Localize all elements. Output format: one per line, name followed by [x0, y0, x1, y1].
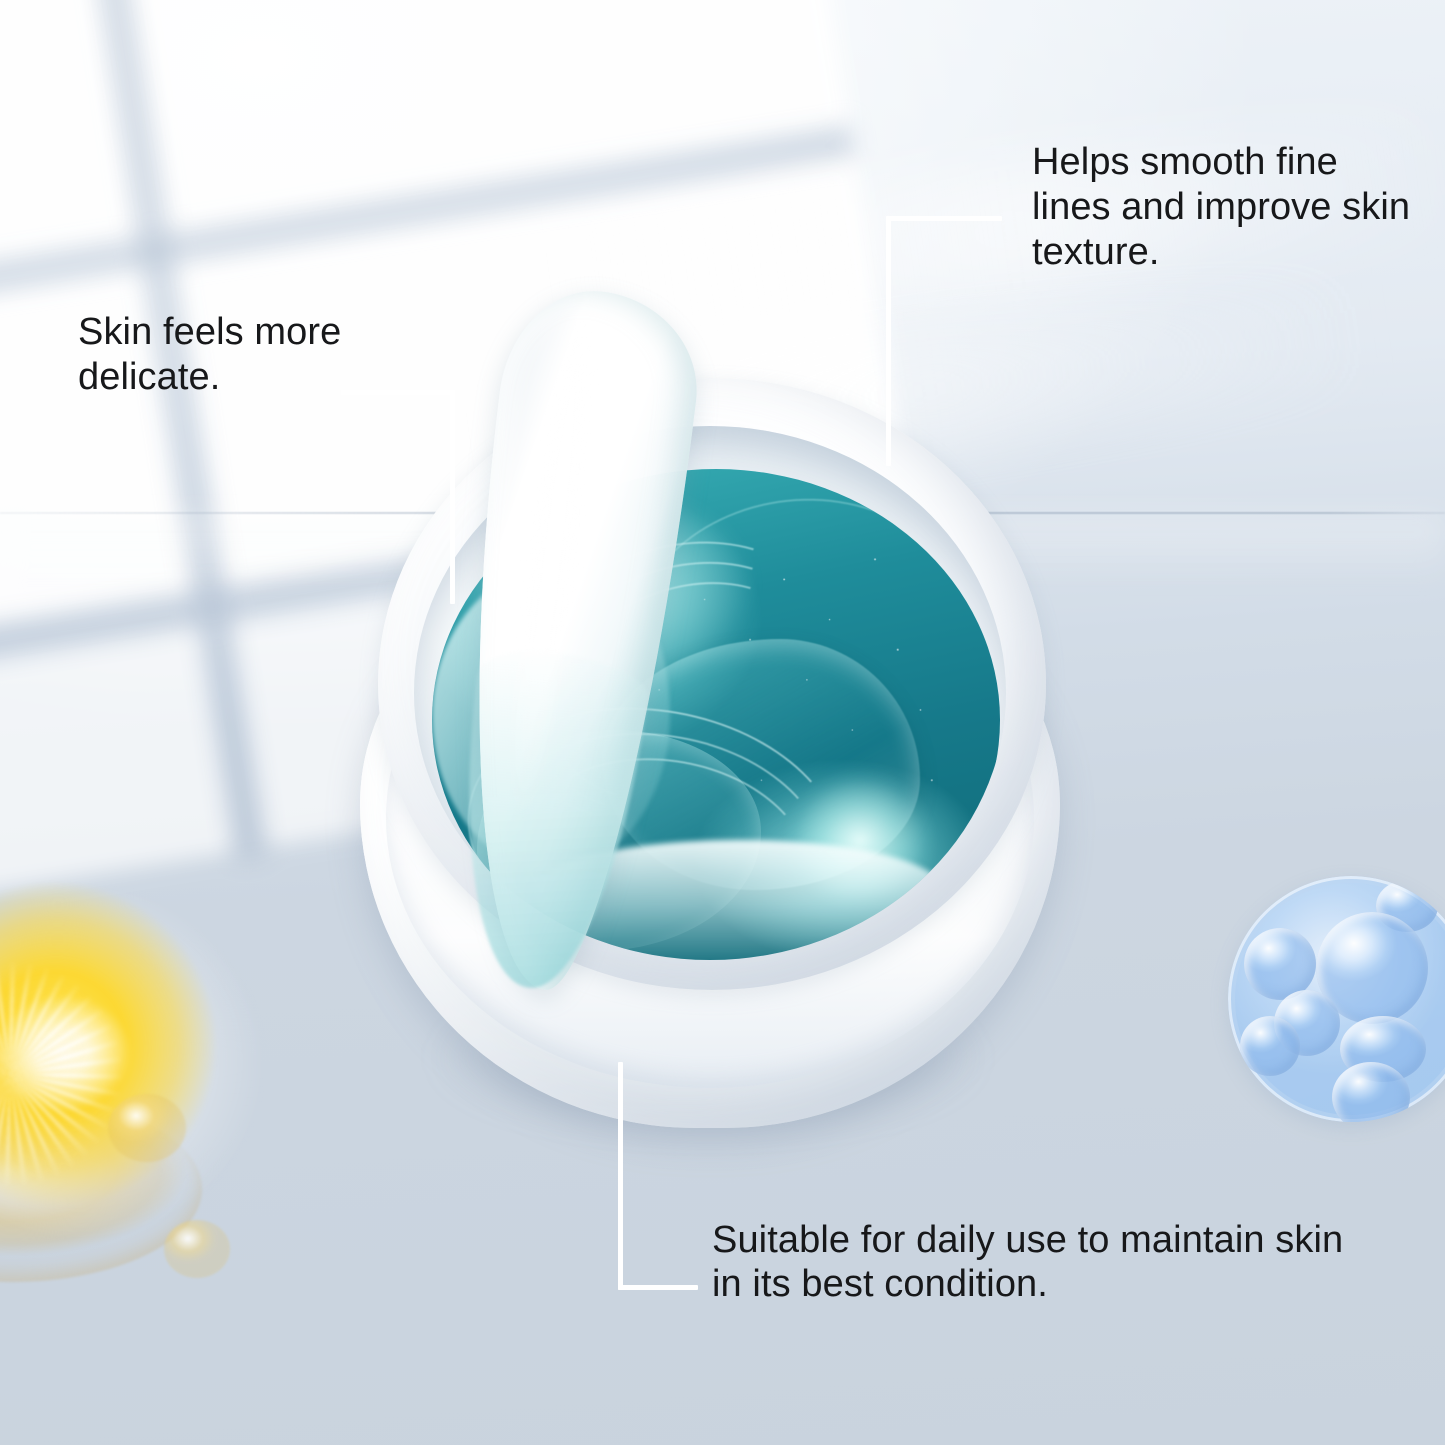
callout-line: lines and improve skin — [1032, 185, 1410, 230]
product-jar — [352, 352, 1068, 1124]
callout-line: Helps smooth fine — [1032, 140, 1410, 185]
aqua-ingredient-accent — [1228, 876, 1445, 1176]
callout-bottom: Suitable for daily use to maintain skin … — [712, 1218, 1343, 1306]
callout-line: delicate. — [78, 355, 341, 400]
product-infographic: Helps smooth fine lines and improve skin… — [0, 0, 1445, 1445]
petri-dish — [1228, 876, 1445, 1122]
leader-line-left-vertical — [450, 390, 455, 604]
honey-droplet — [164, 1220, 230, 1278]
leader-line-bottom-horizontal — [618, 1285, 698, 1290]
leader-line-top-right-horizontal — [886, 216, 1002, 221]
leader-line-top-right-vertical — [886, 216, 891, 466]
water-bubble — [1240, 1016, 1300, 1076]
leader-line-bottom-vertical — [618, 1062, 623, 1290]
callout-left: Skin feels more delicate. — [78, 310, 341, 400]
honey-droplet — [108, 1094, 186, 1162]
callout-line: texture. — [1032, 230, 1410, 275]
callout-line: Skin feels more — [78, 310, 341, 355]
callout-top-right: Helps smooth fine lines and improve skin… — [1032, 140, 1410, 274]
honey-ingredient-accent — [0, 838, 312, 1308]
leader-line-left-horizontal — [341, 390, 455, 395]
callout-line: in its best condition. — [712, 1262, 1343, 1306]
callout-line: Suitable for daily use to maintain skin — [712, 1218, 1343, 1262]
